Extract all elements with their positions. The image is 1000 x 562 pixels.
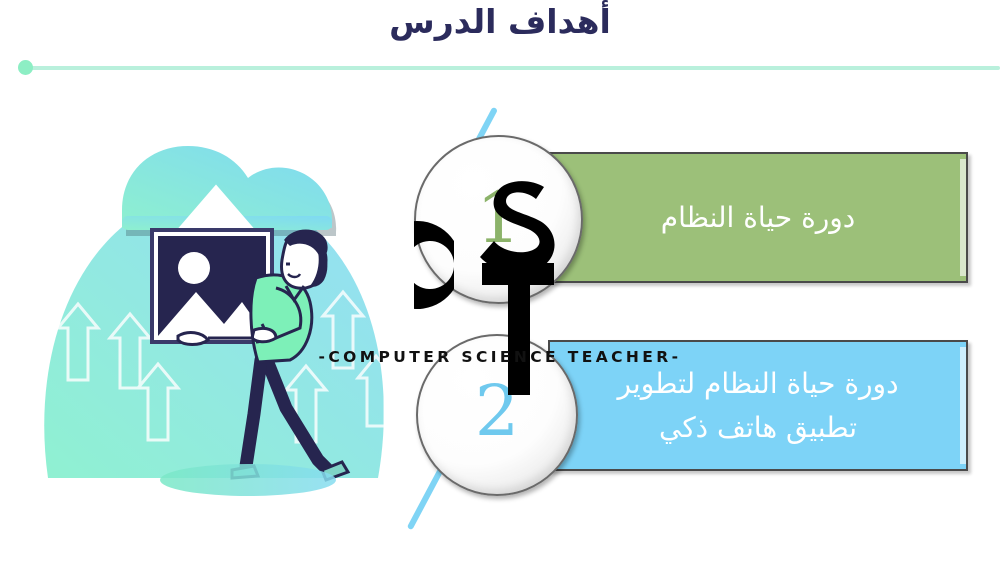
title-divider-dot <box>18 60 33 75</box>
bar-gloss-highlight <box>960 159 966 276</box>
objective-number-1: 1 <box>476 183 521 253</box>
illustration-person-uploading-image-to-cloud <box>18 88 418 508</box>
objective-number-circle-1[interactable]: 1 <box>414 135 583 304</box>
objective-bar-1[interactable]: دورة حياة النظام <box>548 152 968 283</box>
objective-label-1: دورة حياة النظام <box>635 201 882 234</box>
slide-canvas: أهداف الدرس <box>0 0 1000 562</box>
page-title: أهداف الدرس <box>0 2 1000 42</box>
objective-label-2: دورة حياة النظام لتطوير تطبيق هاتف ذكي <box>576 362 940 449</box>
title-divider-line <box>22 66 1000 70</box>
objective-number-2: 2 <box>475 376 520 446</box>
